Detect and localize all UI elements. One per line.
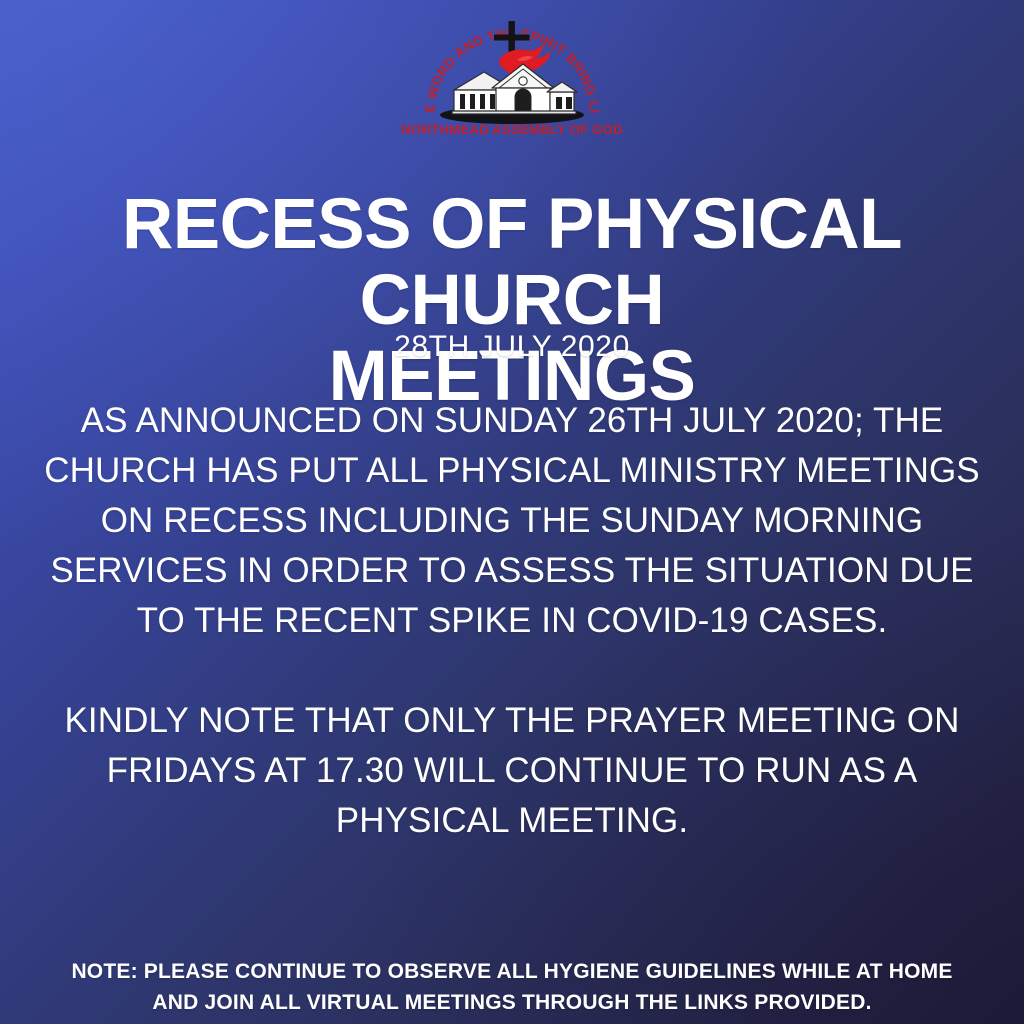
- page-title: RECESS OF PHYSICAL CHURCH MEETINGS: [22, 187, 1002, 415]
- date-stamp: 28TH JULY 2020: [0, 329, 1024, 365]
- footer-note: NOTE: PLEASE CONTINUE TO OBSERVE ALL HYG…: [48, 956, 976, 1018]
- poster-content: RECESS OF PHYSICAL CHURCH MEETINGS 28TH …: [0, 0, 1024, 1024]
- announcement-poster: THE WORD AND THE SPIRIT BRING LIFE: [0, 0, 1024, 1024]
- announcement-body: AS ANNOUNCED ON SUNDAY 26TH JULY 2020; T…: [42, 396, 982, 846]
